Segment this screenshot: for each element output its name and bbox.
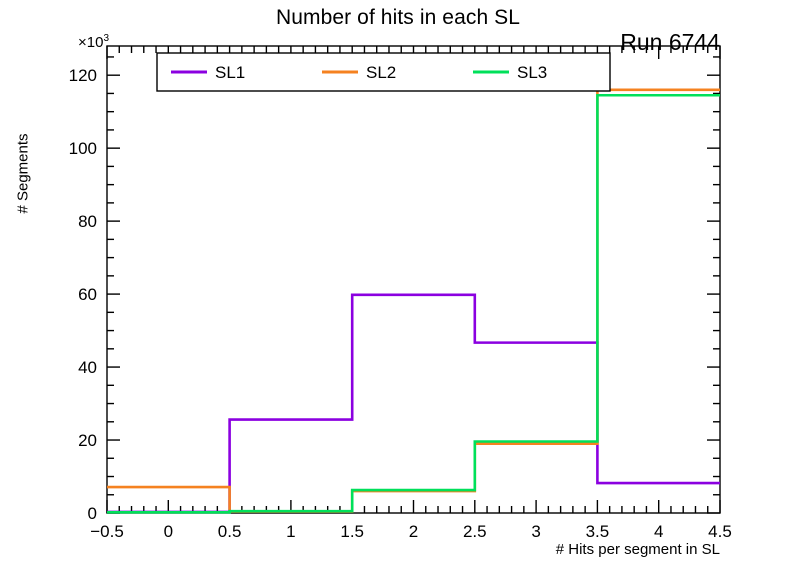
- x-tick-label: 0: [164, 522, 173, 541]
- legend-label-sl1[interactable]: SL1: [215, 63, 245, 82]
- y-tick-label: 60: [78, 285, 97, 304]
- legend-label-sl2[interactable]: SL2: [366, 63, 396, 82]
- series-lines: [107, 90, 720, 512]
- y-tick-label: 80: [78, 212, 97, 231]
- series-step-sl1: [107, 295, 720, 512]
- legend-label-sl3[interactable]: SL3: [517, 63, 547, 82]
- plot-frame: [107, 46, 720, 513]
- series-step-sl3: [107, 95, 720, 512]
- y-tick-label: 120: [69, 66, 97, 85]
- x-tick-label: 3.5: [586, 522, 610, 541]
- x-tick-label: 4.5: [708, 522, 732, 541]
- histogram-plot: 020406080100120 −0.500.511.522.533.544.5…: [0, 0, 796, 572]
- x-tick-label: 1.5: [340, 522, 364, 541]
- x-tick-label: 0.5: [218, 522, 242, 541]
- y-tick-label: 40: [78, 358, 97, 377]
- root-canvas: Number of hits in each SL Run 6744 ×103 …: [0, 0, 796, 572]
- x-tick-label: 3: [531, 522, 540, 541]
- x-tick-label: −0.5: [90, 522, 124, 541]
- x-tick-label: 1: [286, 522, 295, 541]
- x-tick-label: 2.5: [463, 522, 487, 541]
- x-tick-label: 2: [409, 522, 418, 541]
- y-tick-label: 100: [69, 139, 97, 158]
- x-tick-label: 4: [654, 522, 663, 541]
- y-tick-label: 20: [78, 431, 97, 450]
- y-tick-label: 0: [88, 504, 97, 523]
- legend[interactable]: SL1SL2SL3: [157, 53, 610, 91]
- y-axis-ticks: 020406080100120: [69, 57, 720, 523]
- series-step-sl2: [107, 90, 720, 512]
- x-axis-ticks: −0.500.511.522.533.544.5: [90, 46, 732, 541]
